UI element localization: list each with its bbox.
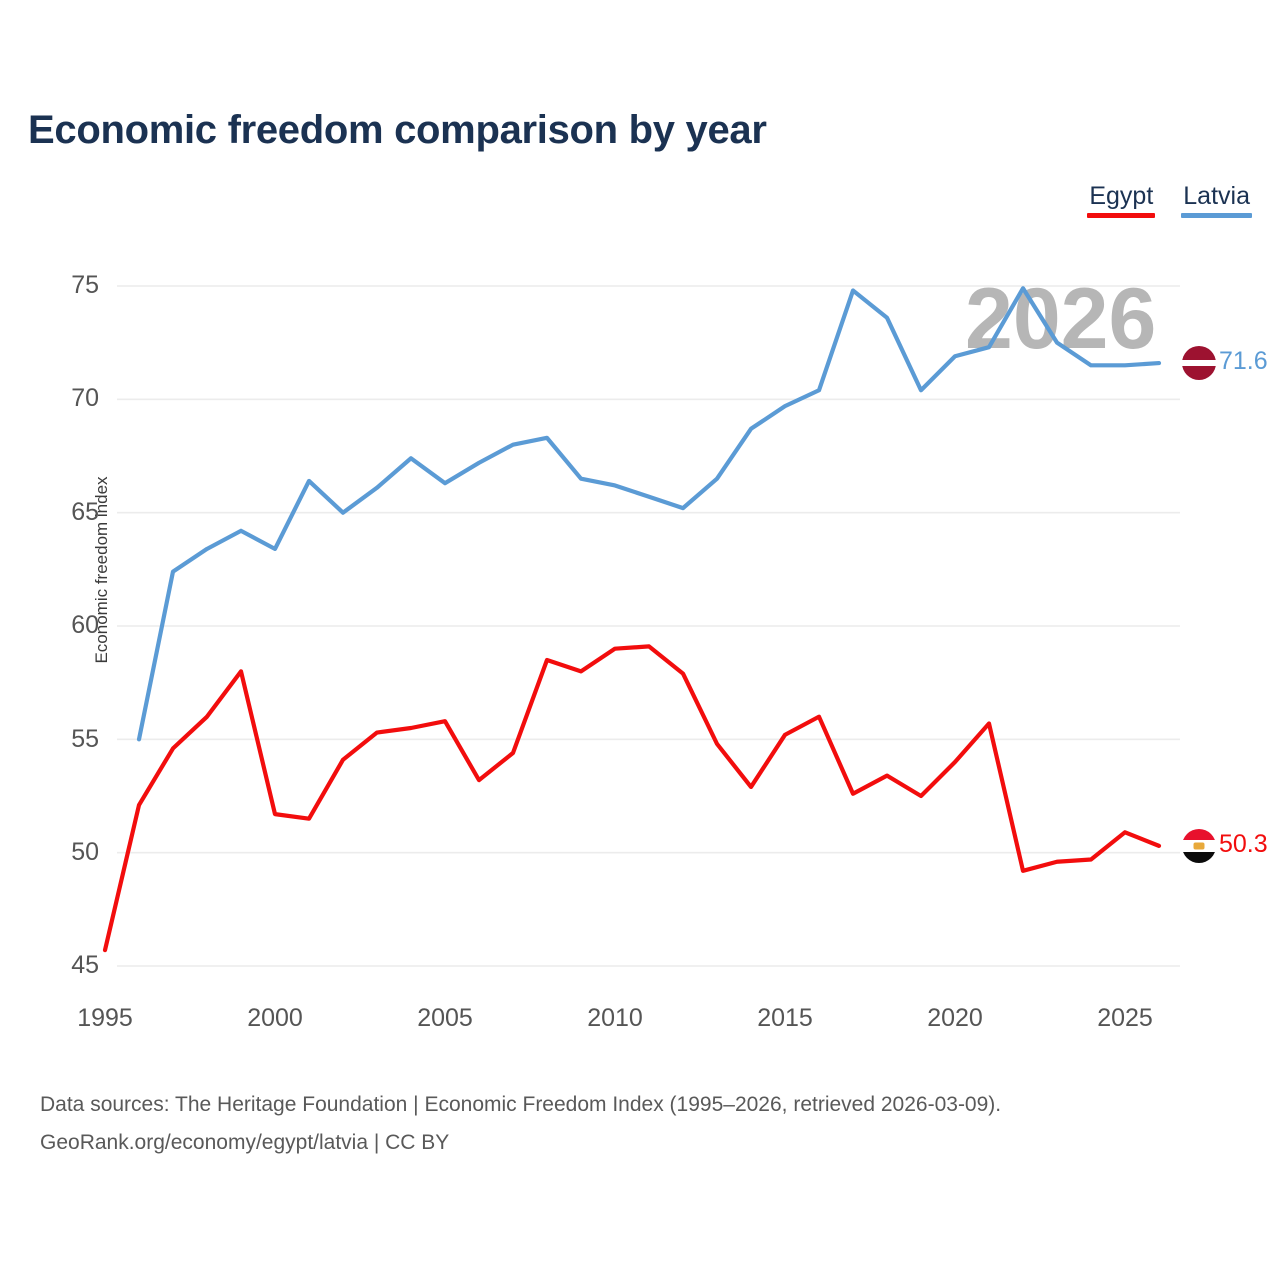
series-line-egypt bbox=[105, 646, 1159, 950]
egypt-flag-eagle-emblem bbox=[1194, 842, 1205, 849]
egypt-flag-icon bbox=[1182, 829, 1216, 863]
series-line-latvia bbox=[139, 288, 1159, 739]
latvia-flag-middle-stripe bbox=[1182, 360, 1216, 367]
footer-line-1: Data sources: The Heritage Foundation | … bbox=[40, 1086, 1001, 1124]
latvia-end-label: 71.6 bbox=[1219, 347, 1268, 376]
egypt-end-label: 50.3 bbox=[1219, 830, 1268, 859]
footer-attribution: Data sources: The Heritage Foundation | … bbox=[40, 1086, 1001, 1162]
latvia-flag-icon bbox=[1182, 346, 1216, 380]
chart-page: Economic freedom comparison by year Egyp… bbox=[0, 0, 1280, 1280]
footer-line-2: GeoRank.org/economy/egypt/latvia | CC BY bbox=[40, 1124, 1001, 1162]
